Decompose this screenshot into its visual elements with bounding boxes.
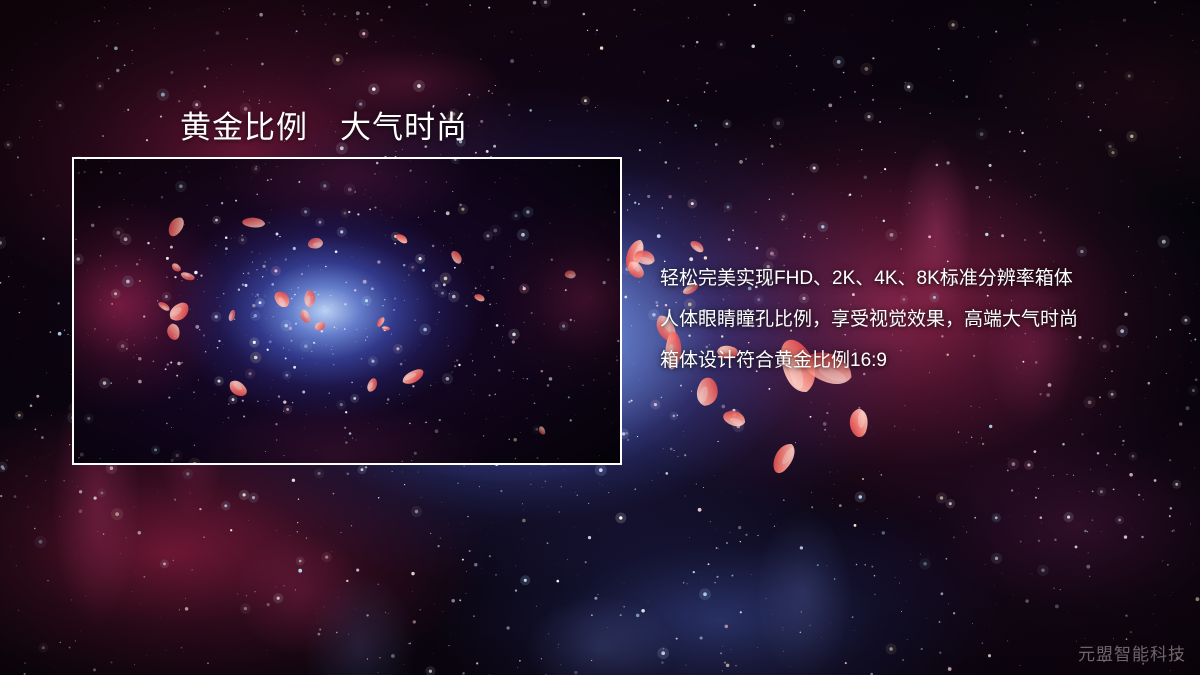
page-title: 黄金比例 大气时尚 [180,102,468,147]
body-text-block: 轻松完美实现FHD、2K、4K、8K标准分辨率箱体 人体眼睛瞳孔比例，享受视觉效… [660,258,1180,381]
framed-image-panel [72,157,622,465]
body-line: 轻松完美实现FHD、2K、4K、8K标准分辨率箱体 [660,258,1180,299]
body-line: 箱体设计符合黄金比例16:9 [660,340,1180,381]
framed-image-content [74,159,620,463]
body-line: 人体眼睛瞳孔比例，享受视觉效果，高端大气时尚 [660,299,1180,340]
watermark: 元盟智能科技 [1078,640,1186,665]
presentation-slide: 黄金比例 大气时尚 轻松完美实现FHD、2K、4K、8K标准分辨率箱体 人体眼睛… [0,0,1200,675]
